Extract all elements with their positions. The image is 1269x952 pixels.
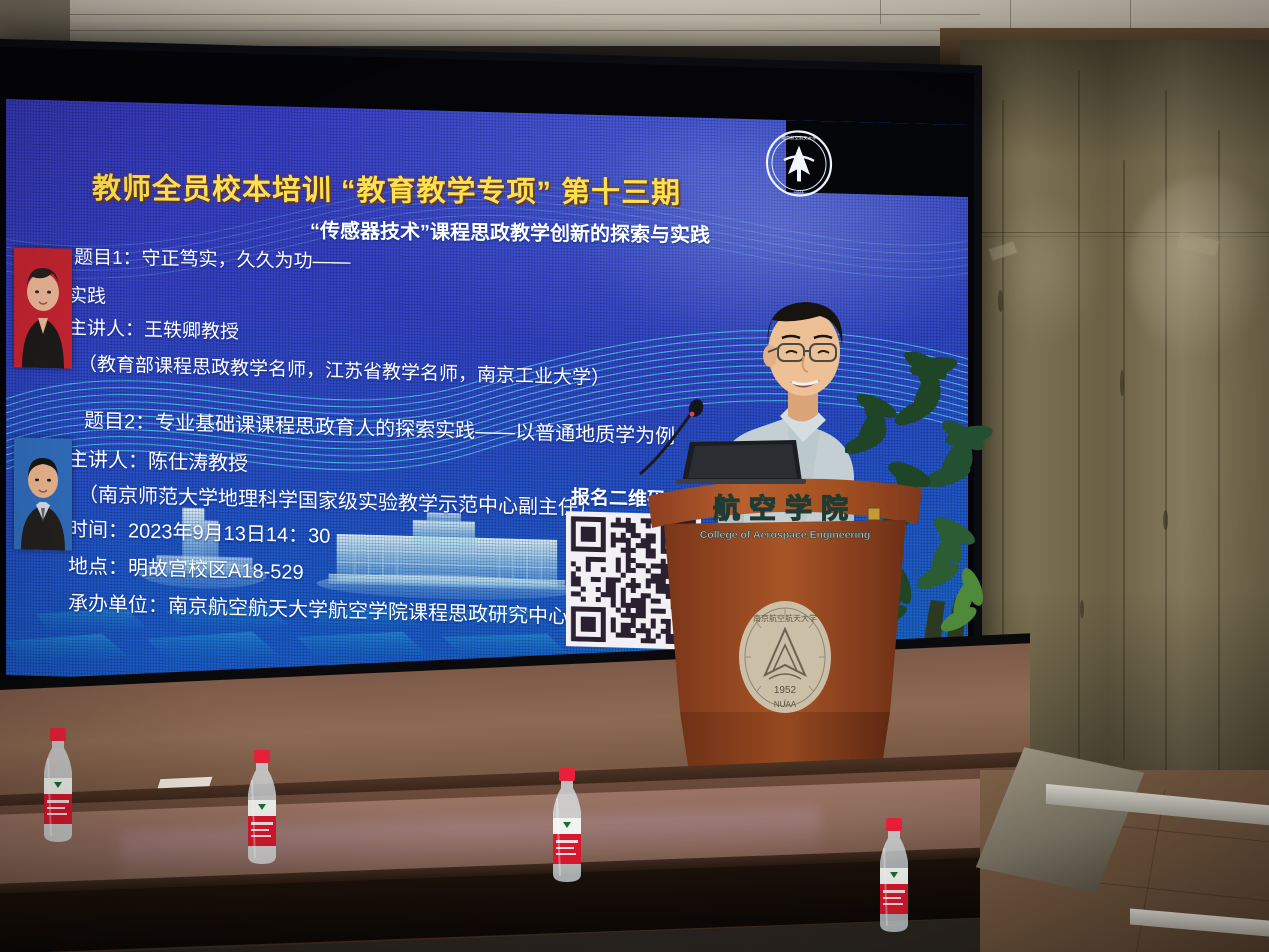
event-time: 时间：2023年9月13日14：30 [68,513,330,549]
topic2-title: 题目2：专业基础课课程思政育人的探索实践——以普通地质学为例 [84,404,675,449]
event-organizer: 承办单位：南京航空航天大学航空学院课程思政研究中心 [68,587,568,630]
svg-text:NUAA: NUAA [794,190,804,194]
gooseneck-microphone-icon [630,398,720,476]
event-place: 地点：明故宫校区A18-529 [68,550,304,585]
wall-light-reflection [1130,175,1269,365]
water-bottle [240,750,284,868]
slide-main-header: 教师全员校本培训 “教育教学专项” 第十三期 [92,165,682,212]
nuaa-emblem-icon: 1952 南京航空航天大学 NUAA [739,601,831,713]
wall-light-reflection-2 [985,200,1105,350]
svg-text:NUAA: NUAA [774,700,797,709]
water-bottle [36,728,80,846]
water-bottle [545,768,589,886]
nuaa-logo-icon: 南京航空航天大学 NUAA [764,128,834,200]
topic2-speaker: 主讲人：陈仕涛教授 [68,443,248,477]
svg-text:南京航空航天大学: 南京航空航天大学 [753,613,817,623]
svg-text:航空学院: 航空学院 [713,493,857,524]
topic1-title-line2: 实践 [68,281,106,309]
slide-sub-header: “传感器技术”课程思政教学创新的探索与实践 [310,214,710,248]
svg-text:1952: 1952 [774,685,797,696]
lecture-hall-scene: 南京航空航天大学 NUAA 教师全员校本培训 “教育教学专项” 第十三期 “传感… [0,0,1269,952]
svg-text:南京航空航天大学: 南京航空航天大学 [781,134,817,142]
podium-name-cn: 航空学院 [713,493,857,524]
topic1-title-line1: 题目1：守正笃实，久久为功—— [74,242,351,274]
topic1-affiliation: （教育部课程思政教学名师，江苏省教学名师，南京工业大学） [78,349,610,390]
svg-text:College of Aerospace Engineeri: College of Aerospace Engineering [700,529,871,541]
water-bottle [872,818,916,936]
speaker2-portrait [14,437,72,551]
speaker1-portrait [14,247,72,369]
topic1-speaker: 主讲人：王轶卿教授 [68,313,239,345]
